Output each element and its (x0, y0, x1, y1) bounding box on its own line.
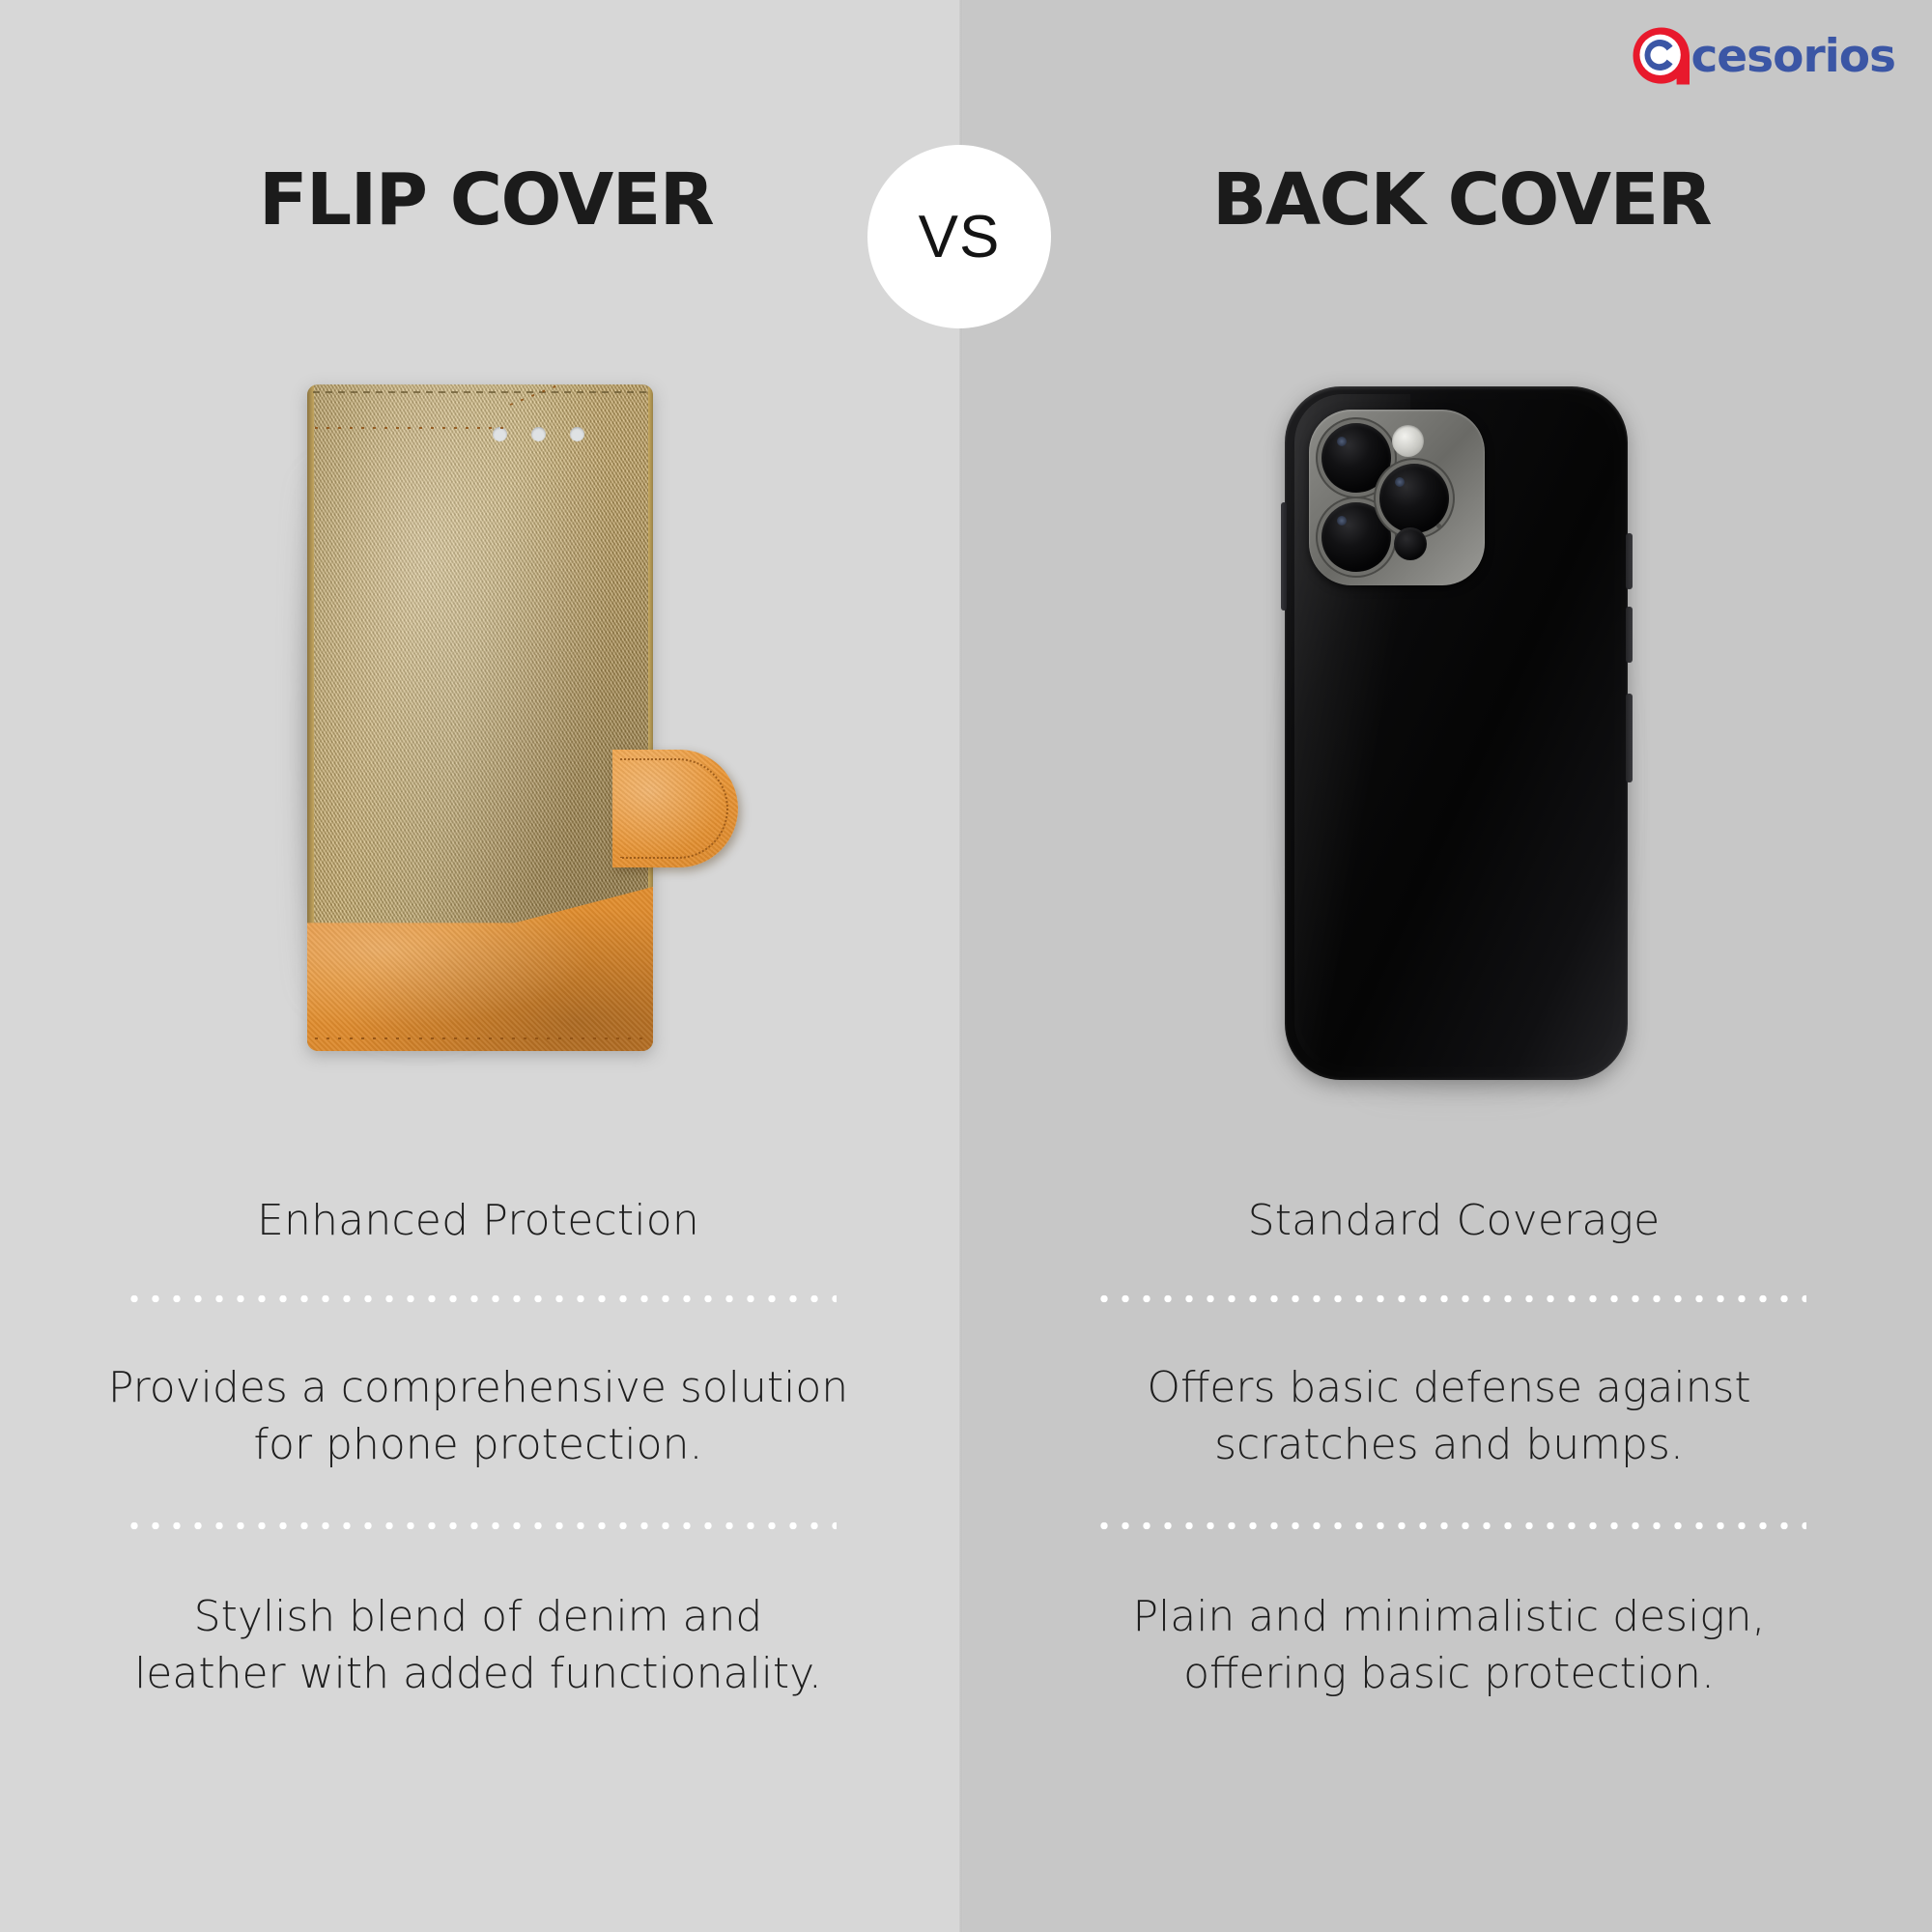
lidar-sensor-icon (1394, 527, 1427, 560)
camera-speaker-holes (493, 427, 609, 442)
left-feature-point-1: Provides a comprehensive solution for ph… (92, 1360, 865, 1474)
camera-lens-bottom-left (1321, 502, 1391, 572)
left-subtitle: Enhanced Protection (63, 1196, 894, 1245)
right-column-title: BACK COVER (1212, 164, 1711, 236)
left-feature-point-2: Stylish blend of denim and leather with … (116, 1589, 840, 1703)
leather-stitch-top (315, 427, 512, 429)
right-feature-point-2: Plain and minimalistic design, offering … (1087, 1589, 1811, 1703)
right-dotted-divider-1 (1094, 1294, 1806, 1303)
volume-up-button (1626, 533, 1633, 589)
camera-lens-top-left (1321, 423, 1391, 493)
mute-switch-cutout (1281, 502, 1287, 611)
strap-stitching (620, 758, 728, 859)
magnetic-closure-strap (612, 750, 738, 867)
leather-stitch-bottom (315, 1037, 643, 1039)
right-feature-point-1: Offers basic defense against scratches a… (1063, 1360, 1835, 1474)
volume-down-button (1626, 607, 1633, 663)
left-dotted-divider-2 (124, 1521, 837, 1530)
power-button (1626, 694, 1633, 782)
camera-flash-icon (1392, 425, 1424, 457)
vs-badge: VS (867, 145, 1051, 328)
left-column-title: FLIP COVER (259, 164, 713, 236)
vs-label: VS (919, 203, 1001, 271)
right-dotted-divider-2 (1094, 1521, 1806, 1530)
camera-module (1309, 410, 1485, 585)
brand-logo: cesorios (1630, 21, 1895, 91)
microphone-dot-icon (1436, 524, 1441, 528)
infographic-stage: cesorios FLIP COVER BACK COVER VS (0, 0, 1932, 1932)
back-cover-product-image (1285, 386, 1652, 1101)
case-body (1285, 386, 1628, 1080)
left-dotted-divider-1 (124, 1294, 837, 1303)
top-edge-stitching (313, 391, 647, 393)
flip-cover-body (307, 384, 653, 1051)
flip-cover-product-image (307, 384, 660, 1070)
brand-logo-text: cesorios (1690, 34, 1895, 79)
right-subtitle: Standard Coverage (1038, 1196, 1869, 1245)
acesorios-a-mark-icon (1630, 24, 1693, 88)
